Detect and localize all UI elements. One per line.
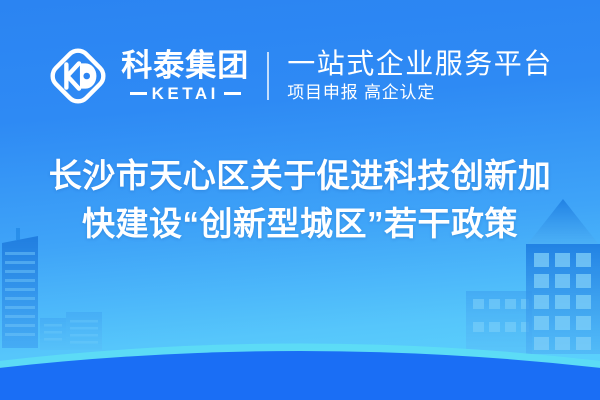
dash-left-icon xyxy=(130,92,147,95)
brand-lockup[interactable]: 科泰集团 KETAI xyxy=(47,45,267,107)
banner-header: 科泰集团 KETAI 一站式企业服务平台 项目申报 高企认定 xyxy=(0,33,600,119)
ketai-diamond-kd-logo-icon xyxy=(47,45,109,107)
headline-title: 长沙市天心区关于促进科技创新加 快建设“创新型城区”若干政策 xyxy=(0,152,600,248)
brand-name-cn: 科泰集团 xyxy=(121,50,249,83)
dash-right-icon xyxy=(224,92,241,95)
slogan-main-text: 一站式企业服务平台 xyxy=(287,49,553,80)
headline-line-2: 快建设“创新型城区”若干政策 xyxy=(0,200,600,248)
slogan-group: 一站式企业服务平台 项目申报 高企认定 xyxy=(287,49,553,102)
brand-text-group: 科泰集团 KETAI xyxy=(121,50,249,103)
headline-line-1: 长沙市天心区关于促进科技创新加 xyxy=(0,152,600,200)
slogan-sub-text: 项目申报 高企认定 xyxy=(287,84,553,103)
brand-name-en-row: KETAI xyxy=(130,85,241,102)
right-wide-building-icon xyxy=(466,291,532,354)
brand-name-en: KETAI xyxy=(152,85,219,102)
promo-banner: 科泰集团 KETAI 一站式企业服务平台 项目申报 高企认定 长沙市天心区关于促… xyxy=(0,0,600,400)
header-vertical-divider xyxy=(267,52,269,100)
